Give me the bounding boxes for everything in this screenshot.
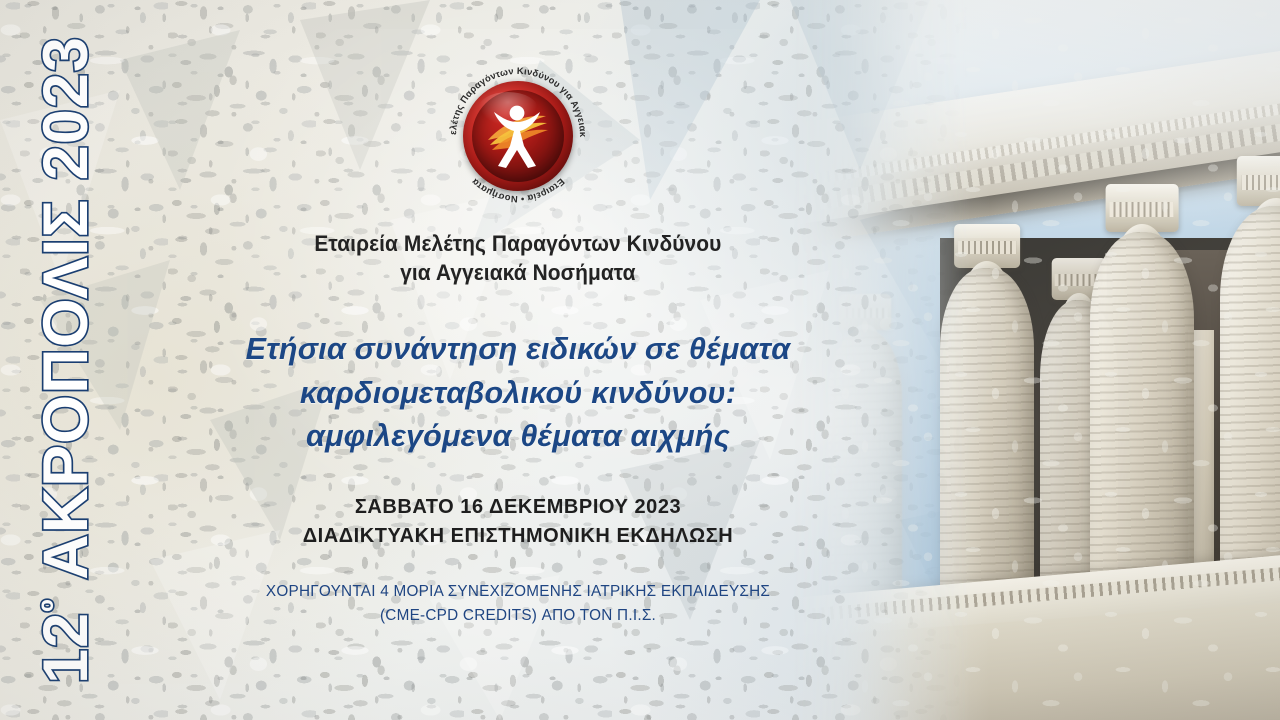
- side-title-year: 2023: [31, 36, 101, 180]
- main-title-line-3: αμφιλεγόμενα θέματα αιχμής: [246, 415, 791, 459]
- society-name: Εταιρεία Μελέτης Παραγόντων Κινδύνου για…: [314, 230, 721, 288]
- society-logo: Μελέτης Παραγόντων Κινδύνου για Αγγειακά…: [442, 60, 594, 212]
- side-title-event-name: ΑΚΡΟΠΟΛΙΣ: [31, 199, 101, 580]
- main-title-line-1: Ετήσια συνάντηση ειδικών σε θέματα: [246, 328, 791, 372]
- main-title-line-2: καρδιομεταβολικού κινδύνου:: [246, 372, 791, 416]
- event-date-block: ΣΑΒΒΑΤΟ 16 ΔΕΚΕΜΒΡΙΟΥ 2023 ΔΙΑΔΙΚΤΥΑΚΗ Ε…: [303, 493, 734, 550]
- poster-content: Μελέτης Παραγόντων Κινδύνου για Αγγειακά…: [132, 0, 904, 720]
- cme-credits-block: ΧΟΡΗΓΟΥΝΤΑΙ 4 ΜΟΡΙΑ ΣΥΝΕΧΙΖΟΜΕΝΗΣ ΙΑΤΡΙΚ…: [266, 580, 770, 628]
- side-event-title: 12º ΑΚΡΟΠΟΛΙΣ 2023: [30, 36, 102, 684]
- event-date: ΣΑΒΒΑΤΟ 16 ΔΕΚΕΜΒΡΙΟΥ 2023: [303, 493, 734, 521]
- logo-figure-icon: [472, 90, 564, 182]
- side-title-number: 12: [31, 612, 101, 684]
- event-format: ΔΙΑΔΙΚΤΥΑΚΗ ΕΠΙΣΤΗΜΟΝΙΚΗ ΕΚΔΗΛΩΣΗ: [303, 522, 734, 550]
- conference-poster: 12º ΑΚΡΟΠΟΛΙΣ 2023 Μελέτης Παραγόντων Κι…: [0, 0, 1280, 720]
- cme-credits-line-1: ΧΟΡΗΓΟΥΝΤΑΙ 4 ΜΟΡΙΑ ΣΥΝΕΧΙΖΟΜΕΝΗΣ ΙΑΤΡΙΚ…: [266, 580, 770, 604]
- society-name-line-1: Εταιρεία Μελέτης Παραγόντων Κινδύνου: [314, 230, 721, 259]
- society-name-line-2: για Αγγειακά Νοσήματα: [314, 259, 721, 288]
- side-ribbon: 12º ΑΚΡΟΠΟΛΙΣ 2023: [0, 0, 132, 720]
- page-title: Ετήσια συνάντηση ειδικών σε θέματα καρδι…: [246, 328, 791, 460]
- side-title-degree-symbol: º: [35, 598, 73, 611]
- cme-credits-line-2: (CME-CPD CREDITS) ΑΠΟ ΤΟΝ Π.Ι.Σ.: [266, 604, 770, 628]
